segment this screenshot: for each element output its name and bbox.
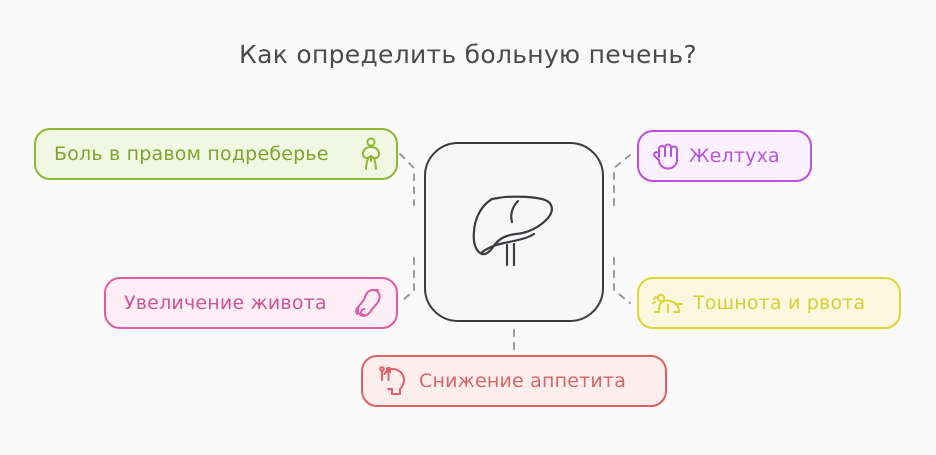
symptom-jaundice[interactable]: Желтуха bbox=[637, 130, 812, 182]
vomiting-person-icon bbox=[652, 290, 684, 316]
symptom-pain-label: Боль в правом подреберье bbox=[54, 143, 329, 165]
liver-icon bbox=[468, 191, 560, 273]
infographic-canvas: Как определить больную печень? Боль в пр… bbox=[0, 0, 936, 455]
center-liver-card bbox=[424, 142, 604, 322]
symptom-abdominal-enlargement[interactable]: Увеличение живота bbox=[104, 277, 398, 329]
symptom-pain-right-hypochondrium[interactable]: Боль в правом подреберье bbox=[34, 128, 398, 180]
symptom-jaundice-label: Желтуха bbox=[689, 145, 780, 167]
connector-nausea bbox=[614, 258, 630, 303]
connector-belly bbox=[400, 258, 414, 303]
hand-icon bbox=[651, 141, 679, 171]
page-title: Как определить больную печень? bbox=[0, 40, 936, 69]
head-cutlery-icon bbox=[377, 365, 409, 397]
symptom-belly-label: Увеличение живота bbox=[124, 292, 327, 314]
connector-jaundice bbox=[614, 155, 630, 205]
connector-pain bbox=[400, 154, 414, 205]
symptom-nausea-vomiting[interactable]: Тошнота и рвота bbox=[637, 277, 901, 329]
stomach-icon bbox=[354, 287, 384, 319]
symptom-appetite-loss[interactable]: Снижение аппетита bbox=[361, 355, 667, 407]
body-person-icon bbox=[360, 137, 382, 171]
symptom-nausea-label: Тошнота и рвота bbox=[693, 292, 865, 314]
symptom-appetite-label: Снижение аппетита bbox=[419, 370, 626, 392]
